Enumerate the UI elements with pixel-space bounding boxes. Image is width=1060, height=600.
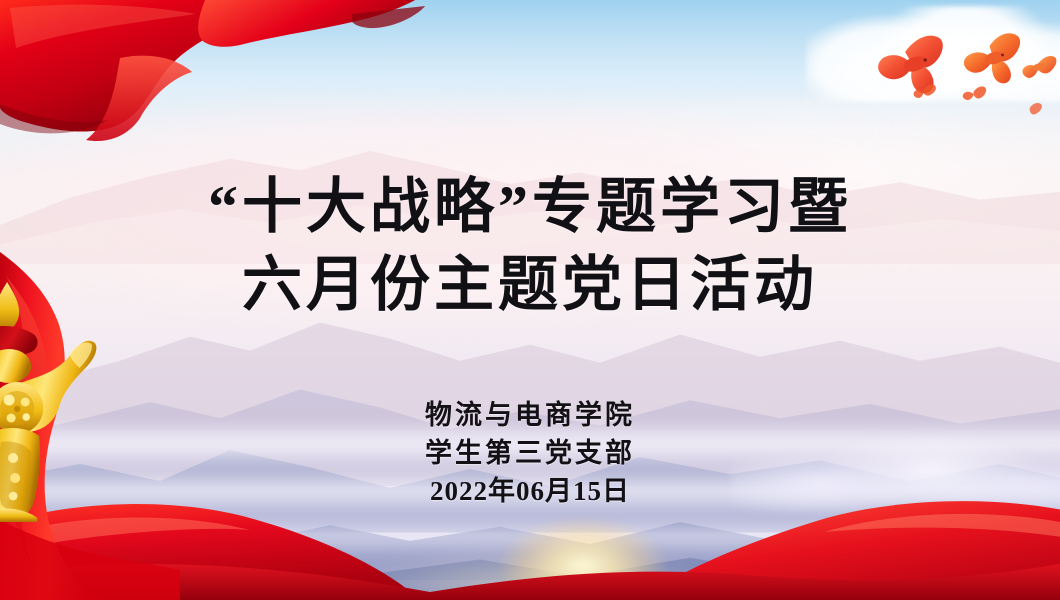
flying-doves [869, 12, 1060, 132]
dove-small-right [1023, 56, 1057, 78]
slide-title: “十大战略”专题学习暨 六月份主题党日活动 [0, 168, 1060, 324]
title-line-2: 六月份主题党日活动 [0, 246, 1060, 324]
dove-medium [964, 33, 1020, 83]
subtitle-date: 2022年06月15日 [0, 472, 1060, 510]
subtitle-branch: 学生第三党支部 [0, 434, 1060, 472]
subtitle-organization: 物流与电商学院 [0, 396, 1060, 434]
red-flag-ribbon [0, 0, 445, 192]
dove-tiny-b [963, 86, 986, 100]
slide-subtitle: 物流与电商学院 学生第三党支部 2022年06月15日 [0, 396, 1060, 510]
dove-tiny-c [1030, 103, 1042, 115]
title-line-1: “十大战略”专题学习暨 [0, 168, 1060, 246]
presentation-slide: “十大战略”专题学习暨 六月份主题党日活动 物流与电商学院 学生第三党支部 20… [0, 0, 1060, 600]
